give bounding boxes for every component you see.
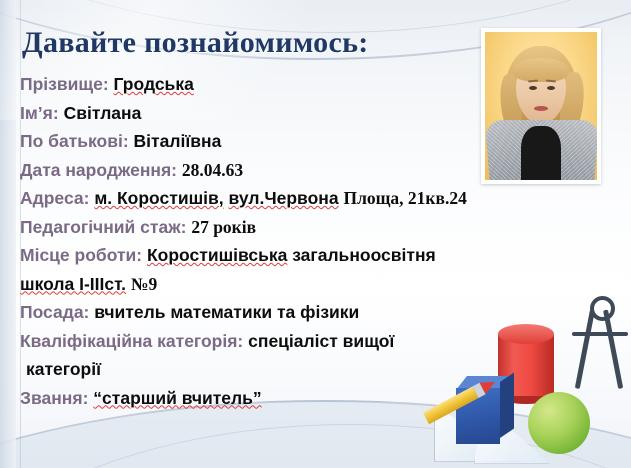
field-surname: Прізвище: Гродська	[20, 70, 620, 99]
field-workplace-value-c: школа I-IIIст.	[20, 274, 126, 294]
field-rank-label: Звання:	[20, 388, 88, 408]
cylinder-top	[498, 324, 554, 344]
field-address-label: Адреса:	[20, 188, 89, 208]
presentation-slide: Давайте познайомимось: Прізвище: Гродськ…	[0, 0, 631, 468]
field-rank-value: “старший вчитель”	[93, 388, 261, 408]
field-workplace-value-a: Коростишівська	[147, 245, 287, 265]
field-address-street: вул.Червона	[229, 188, 339, 208]
field-qualification-label: Кваліфікаційна категорія:	[20, 331, 243, 351]
field-firstname-value: Світлана	[64, 103, 142, 123]
field-birthdate: Дата народження: 28.04.63	[20, 156, 620, 185]
field-experience-value: 27 років	[191, 217, 256, 237]
math-clipart	[440, 292, 631, 468]
field-workplace: Місце роботи: Коростишівська загальноосв…	[20, 241, 620, 270]
field-address-city-text: м. Коростишів,	[94, 188, 223, 208]
field-experience: Педагогічний стаж: 27 років	[20, 213, 620, 242]
compass-crossbar	[572, 332, 628, 336]
cube-side-face	[500, 373, 514, 438]
field-patronymic-value: Віталіївна	[134, 131, 222, 151]
field-address: Адреса: м. Коростишів, вул.Червона Площа…	[20, 184, 620, 213]
slide-title: Давайте познайомимось:	[22, 26, 369, 60]
field-birthdate-label: Дата народження:	[20, 160, 177, 180]
field-workplace-value-b: загальноосвітня	[292, 245, 436, 265]
slide-title-word-1: Давайте познайомимось:	[22, 26, 369, 59]
field-birthdate-value: 28.04.63	[182, 160, 243, 180]
field-firstname-label: Ім’я:	[20, 103, 59, 123]
field-qualification-value-b: категорії	[26, 359, 101, 379]
field-experience-label: Педагогічний стаж:	[20, 217, 186, 237]
field-patronymic-label: По батькові:	[20, 131, 129, 151]
field-workplace-value-d: №9	[131, 274, 157, 294]
field-address-rest: Площа, 21кв.24	[343, 188, 466, 208]
sphere-icon	[528, 392, 590, 454]
field-workplace-label: Місце роботи:	[20, 245, 142, 265]
field-patronymic: По батькові: Віталіївна	[20, 127, 620, 156]
field-surname-value: Гродська	[114, 74, 194, 94]
compass-leg-right	[603, 310, 623, 389]
field-firstname: Ім’я: Світлана	[20, 99, 620, 128]
left-edge-band	[0, 0, 16, 468]
compass-icon	[590, 296, 615, 321]
field-qualification-value-a: спеціаліст вищої	[248, 331, 394, 351]
field-position-label: Посада:	[20, 302, 89, 322]
field-surname-label: Прізвище:	[20, 74, 109, 94]
compass-leg-left	[575, 310, 595, 389]
field-address-city: м. Коростишів,	[94, 188, 223, 208]
field-position-value: вчитель математики та фізики	[94, 302, 359, 322]
